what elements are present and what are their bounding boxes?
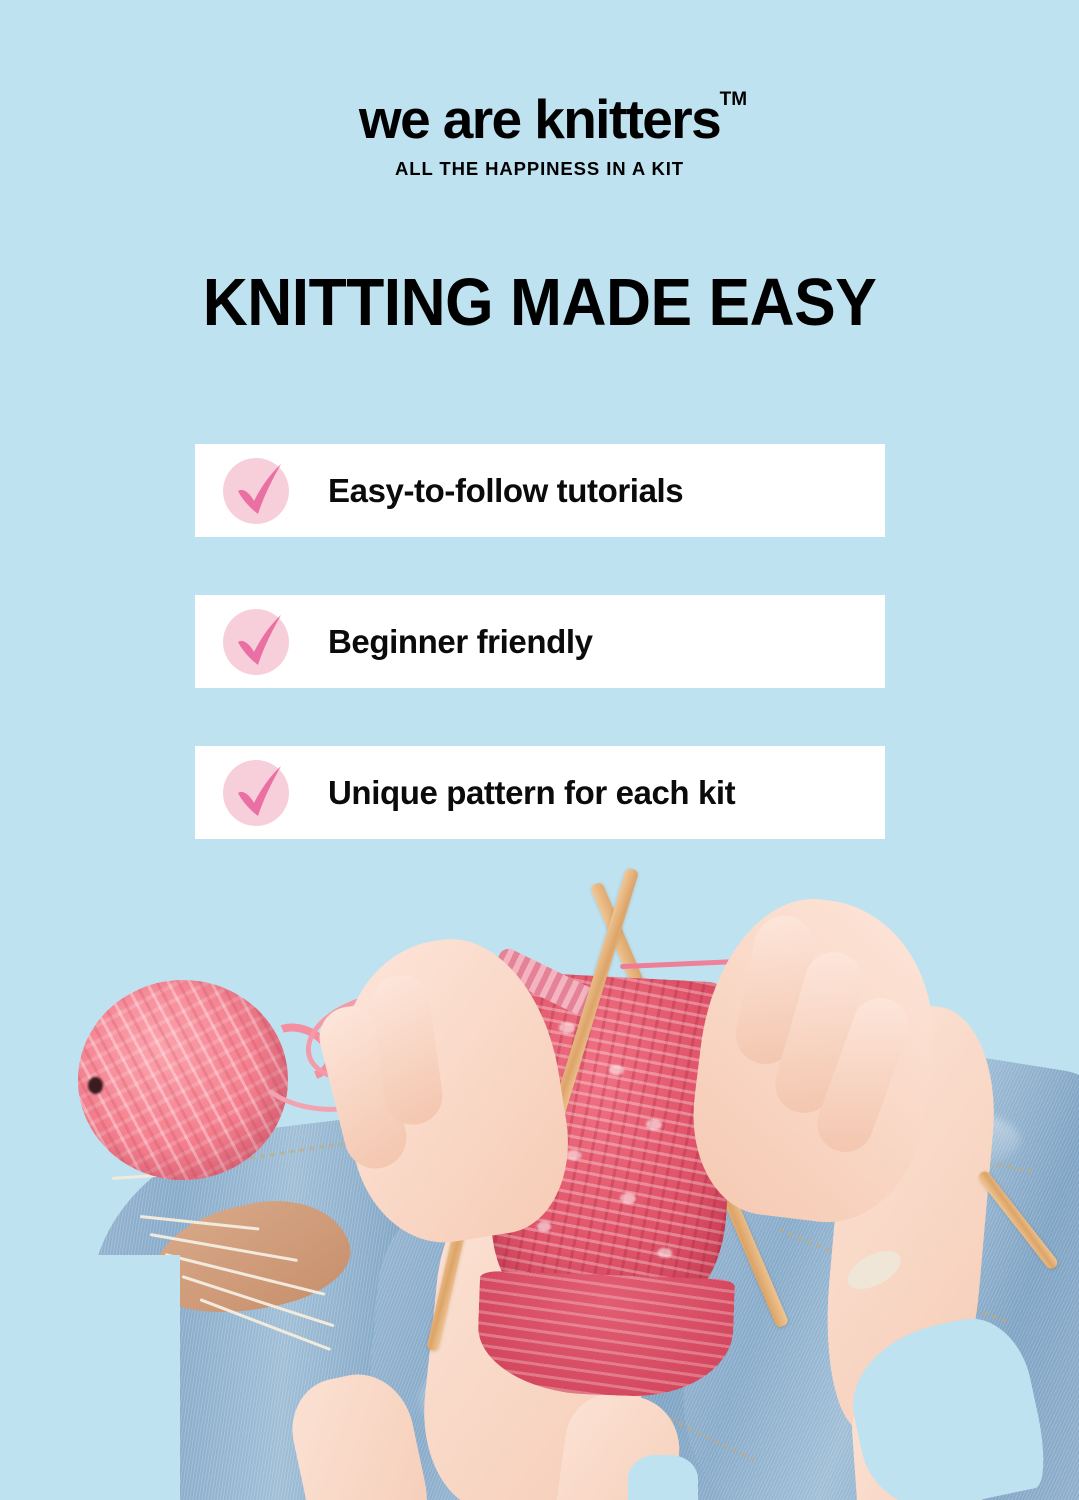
feature-label: Easy-to-follow tutorials (328, 472, 683, 510)
feature-card-1: Easy-to-follow tutorials (195, 444, 885, 537)
background-gap (628, 1455, 698, 1500)
brand-logo-text: we are knitters (359, 88, 720, 150)
feature-label: Beginner friendly (328, 623, 593, 661)
lace-hole (559, 1022, 576, 1034)
feature-label: Unique pattern for each kit (328, 774, 735, 812)
check-icon (223, 458, 289, 524)
poster-canvas: we are knittersTM ALL THE HAPPINESS IN A… (0, 0, 1079, 1500)
lace-hole (657, 1248, 673, 1259)
brand-logo: we are knittersTM (359, 92, 720, 147)
lace-hole (566, 1150, 582, 1161)
brand-tagline: ALL THE HAPPINESS IN A KIT (0, 158, 1079, 180)
check-icon (223, 760, 289, 826)
feature-card-3: Unique pattern for each kit (195, 746, 885, 839)
trademark-icon: TM (720, 90, 747, 109)
lace-hole (646, 1119, 663, 1131)
lace-hole (536, 1221, 552, 1232)
lace-hole (609, 1065, 625, 1076)
page-title: KNITTING MADE EASY (38, 267, 1041, 338)
brand-header: we are knittersTM ALL THE HAPPINESS IN A… (0, 92, 1079, 180)
yarn-ball (78, 980, 288, 1180)
lace-hole (620, 1192, 637, 1204)
feature-card-2: Beginner friendly (195, 595, 885, 688)
check-icon (223, 609, 289, 675)
background-gap (0, 1255, 180, 1500)
yarn-ball-center-hole (88, 1077, 103, 1094)
feature-list: Easy-to-follow tutorials Beginner friend… (195, 444, 885, 897)
hero-photo (0, 855, 1079, 1500)
